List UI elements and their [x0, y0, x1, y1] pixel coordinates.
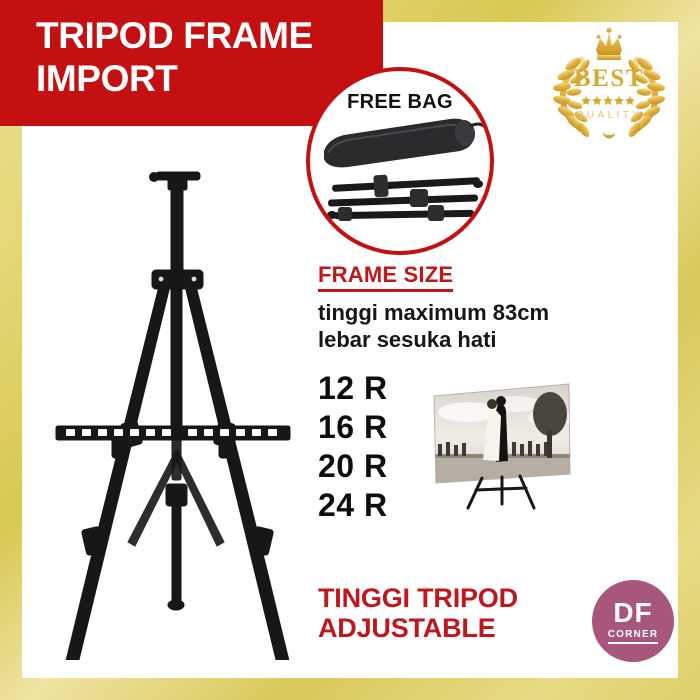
tripod-easel-illustration	[28, 150, 318, 660]
logo-secondary-text: CORNER	[608, 630, 659, 644]
badge-best-text: BEST	[574, 65, 644, 92]
free-bag-label: FREE BAG	[310, 91, 490, 114]
brand-logo-df-corner: DF CORNER	[592, 580, 674, 662]
badge-stars	[581, 96, 635, 105]
product-poster: TRIPOD FRAME IMPORT FREE BAG	[0, 0, 700, 700]
wedding-canvas-illustration	[424, 378, 576, 513]
slogan-line-1: TINGGI TRIPOD	[318, 583, 518, 613]
slogan-line-2: ADJUSTABLE	[318, 613, 518, 643]
slogan-block: TINGGI TRIPOD ADJUSTABLE	[318, 583, 518, 643]
spec-line-height: tinggi maximum 83cm	[318, 299, 588, 326]
free-bag-badge: FREE BAG	[306, 67, 494, 255]
frame-size-heading: FRAME SIZE	[318, 262, 453, 292]
logo-primary-text: DF	[613, 599, 652, 627]
banner-title-line-1: TRIPOD FRAME	[36, 14, 383, 57]
best-quality-badge: BEST QUALITY	[540, 22, 678, 142]
badge-quality-text: QUALITY	[576, 110, 643, 121]
canvas-photo-on-easel-image	[424, 378, 576, 513]
spec-line-width: lebar sesuka hati	[318, 326, 588, 353]
laurel-wreath-crown-icon: BEST QUALITY	[540, 22, 678, 142]
product-image-tripod-easel	[28, 150, 318, 660]
